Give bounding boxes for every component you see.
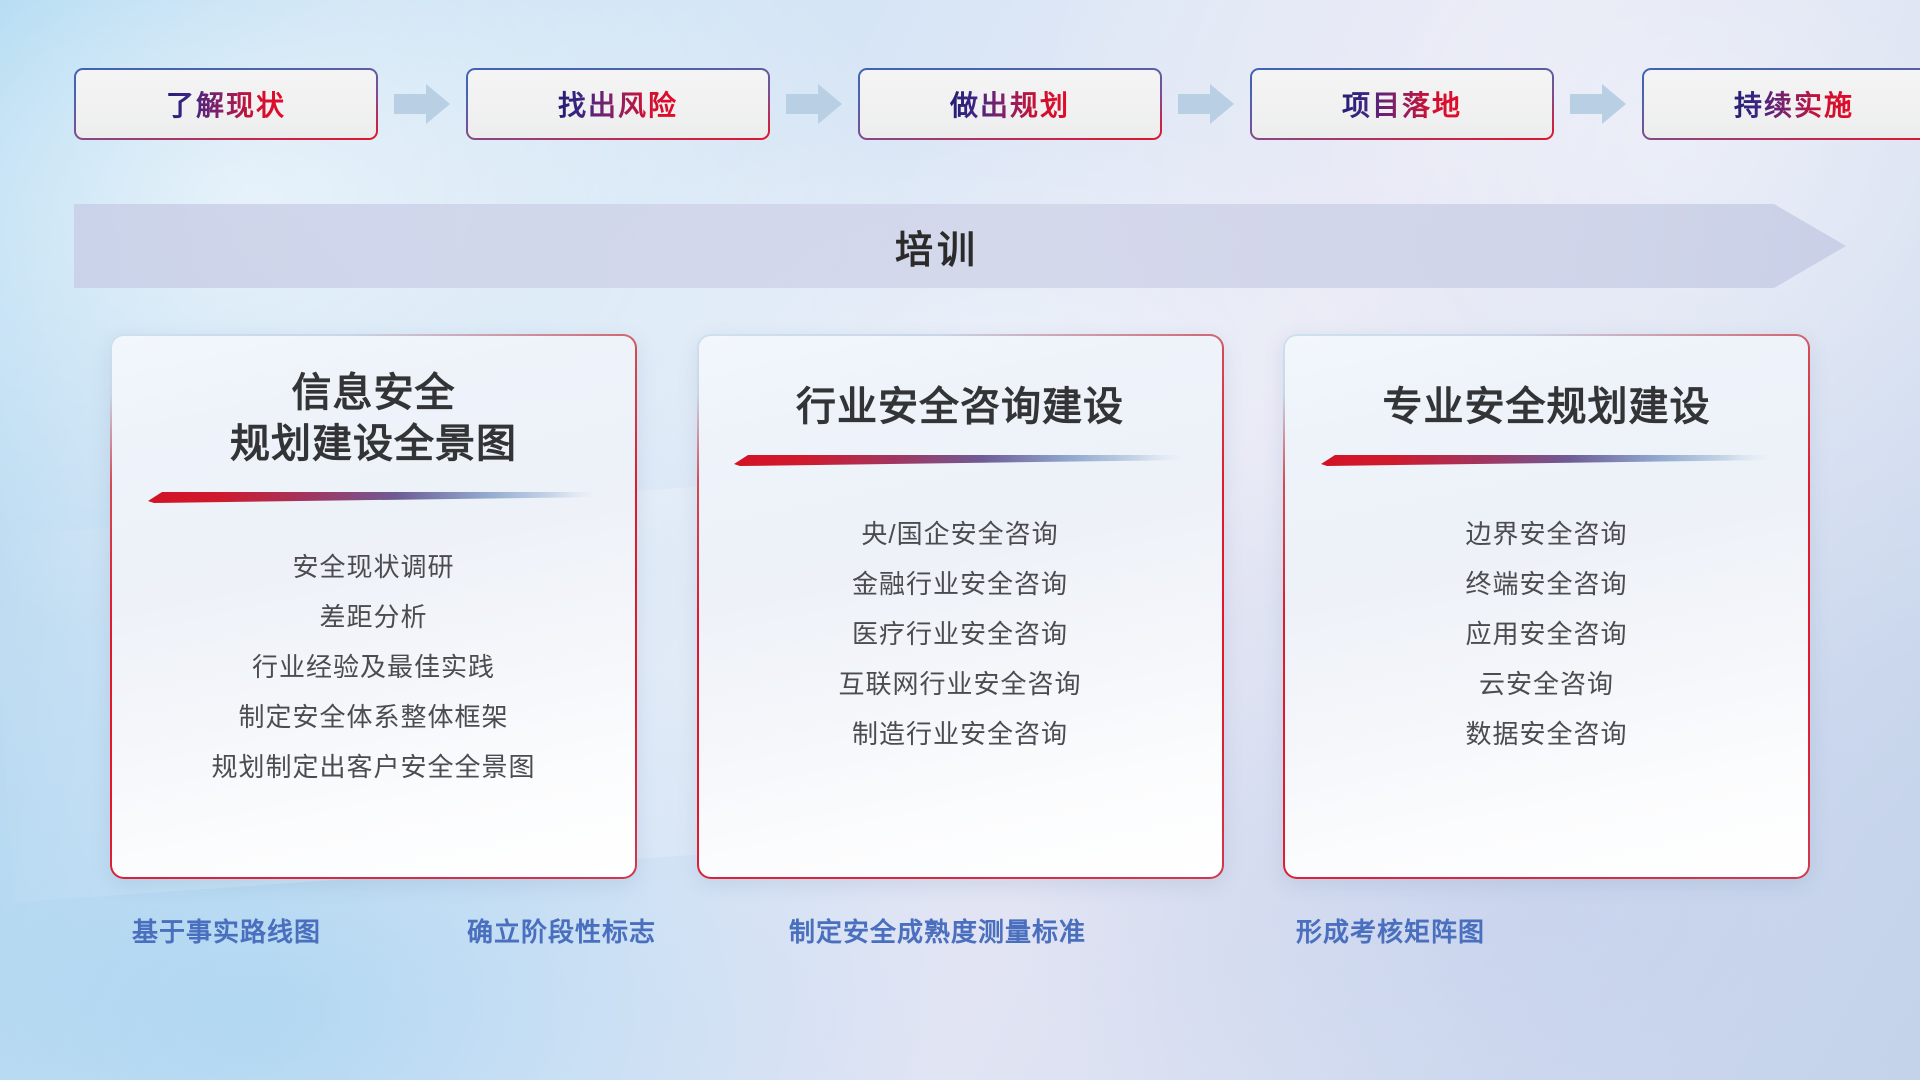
step-button-2[interactable]: 找出风险	[466, 68, 770, 140]
step-button-1-surface: 了解现状	[76, 70, 376, 138]
card-1-list: 安全现状调研 差距分析 行业经验及最佳实践 制定安全体系整体框架 规划制定出客户…	[138, 542, 609, 792]
arrow-right-icon	[784, 81, 844, 127]
step-button-5-surface: 持续实施	[1644, 70, 1920, 138]
red-gradient-divider	[1321, 453, 1773, 467]
red-gradient-divider	[734, 453, 1186, 467]
step-button-2-surface: 找出风险	[468, 70, 768, 138]
outcome-labels: 基于事实路线图 确立阶段性标志 制定安全成熟度测量标准 形成考核矩阵图	[0, 912, 1920, 968]
step-button-3[interactable]: 做出规划	[858, 68, 1162, 140]
card-3-body: 专业安全规划建设	[1283, 334, 1810, 879]
list-item: 互联网行业安全咨询	[838, 659, 1081, 709]
list-item: 差距分析	[319, 592, 427, 642]
arrow-right-icon	[1176, 81, 1236, 127]
card-1-title: 信息安全 规划建设全景图	[230, 368, 517, 470]
list-item: 应用安全咨询	[1465, 609, 1627, 659]
list-item: 制造行业安全咨询	[852, 709, 1068, 759]
outcome-label-1: 基于事实路线图	[132, 912, 321, 949]
step-button-4[interactable]: 项目落地	[1250, 68, 1554, 140]
list-item: 央/国企安全咨询	[861, 509, 1058, 559]
training-banner: 培训	[74, 204, 1846, 288]
outcome-label-2: 确立阶段性标志	[467, 912, 656, 949]
card-professional-security-planning[interactable]: 专业安全规划建设	[1283, 334, 1810, 879]
outcome-label-3: 制定安全成熟度测量标准	[789, 912, 1086, 949]
card-3-title: 专业安全规划建设	[1383, 368, 1711, 433]
red-gradient-divider	[148, 490, 600, 504]
list-item: 金融行业安全咨询	[852, 559, 1068, 609]
card-info-security-blueprint[interactable]: 信息安全 规划建设全景图	[110, 334, 637, 879]
step-button-3-label: 做出规划	[950, 84, 1070, 124]
step-button-1[interactable]: 了解现状	[74, 68, 378, 140]
step-button-3-surface: 做出规划	[860, 70, 1160, 138]
list-item: 数据安全咨询	[1465, 709, 1627, 759]
list-item: 终端安全咨询	[1465, 559, 1627, 609]
card-3-list: 边界安全咨询 终端安全咨询 应用安全咨询 云安全咨询 数据安全咨询	[1311, 509, 1782, 759]
list-item: 行业经验及最佳实践	[252, 642, 495, 692]
card-2-title: 行业安全咨询建设	[796, 368, 1124, 433]
step-button-5-label: 持续实施	[1734, 84, 1854, 124]
step-button-2-label: 找出风险	[558, 84, 678, 124]
process-steps: 了解现状 找出风险 做出规划	[74, 68, 1846, 140]
training-banner-label: 培训	[74, 204, 1846, 288]
slide-stage: 了解现状 找出风险 做出规划	[0, 0, 1920, 1080]
step-button-4-label: 项目落地	[1342, 84, 1462, 124]
step-button-1-label: 了解现状	[166, 84, 286, 124]
card-2-body: 行业安全咨询建设	[697, 334, 1224, 879]
step-button-5[interactable]: 持续实施	[1642, 68, 1920, 140]
card-1-body: 信息安全 规划建设全景图	[110, 334, 637, 879]
list-item: 云安全咨询	[1479, 659, 1614, 709]
arrow-right-icon	[392, 81, 452, 127]
list-item: 制定安全体系整体框架	[238, 692, 508, 742]
list-item: 边界安全咨询	[1465, 509, 1627, 559]
arrow-right-icon	[1568, 81, 1628, 127]
outcome-label-4: 形成考核矩阵图	[1296, 912, 1485, 949]
list-item: 安全现状调研	[292, 542, 454, 592]
step-button-4-surface: 项目落地	[1252, 70, 1552, 138]
list-item: 规划制定出客户安全全景图	[211, 742, 535, 792]
capability-cards: 信息安全 规划建设全景图	[110, 334, 1810, 879]
list-item: 医疗行业安全咨询	[852, 609, 1068, 659]
card-industry-security-consulting[interactable]: 行业安全咨询建设	[697, 334, 1224, 879]
card-2-list: 央/国企安全咨询 金融行业安全咨询 医疗行业安全咨询 互联网行业安全咨询 制造行…	[725, 509, 1196, 759]
